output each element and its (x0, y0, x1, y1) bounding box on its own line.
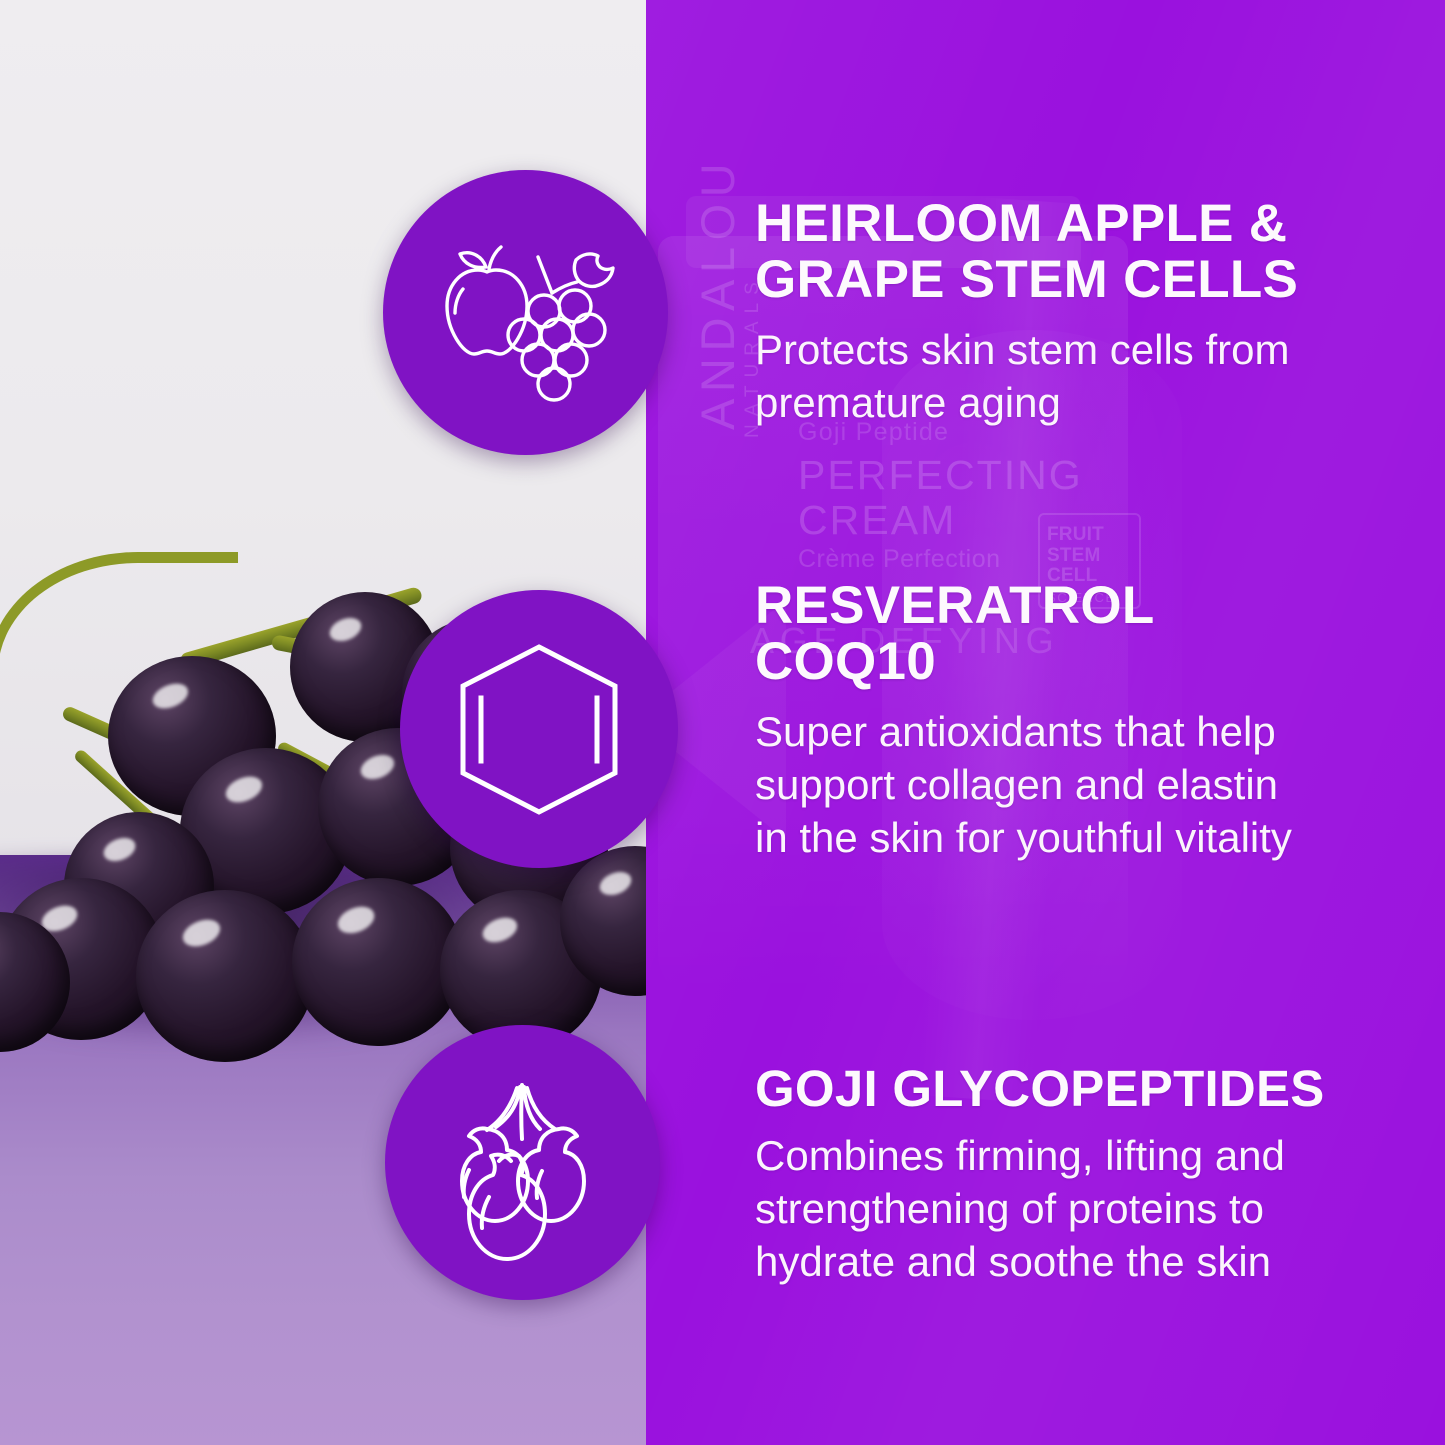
feature-title-2: RESVERATROL COQ10 (755, 578, 1315, 690)
feature-description-1: Protects skin stem cells from premature … (755, 324, 1395, 430)
feature-icon-circle-2 (400, 590, 678, 868)
feature-description-2: Super antioxidants that help support col… (755, 706, 1315, 865)
feature-icon-circle-1 (383, 170, 668, 455)
feature-title-1: HEIRLOOM APPLE & GRAPE STEM CELLS (755, 196, 1395, 308)
hexagon-molecule-icon (449, 637, 629, 822)
feature-block-3: GOJI GLYCOPEPTIDES Combines firming, lif… (755, 1062, 1405, 1289)
feature-block-1: HEIRLOOM APPLE & GRAPE STEM CELLS Protec… (755, 196, 1395, 430)
goji-berries-icon (425, 1065, 621, 1261)
ghost-badge-line2: STEM (1047, 546, 1139, 567)
feature-block-2: RESVERATROL COQ10 Super antioxidants tha… (755, 578, 1315, 865)
ghost-badge-line1: FRUIT (1047, 525, 1139, 546)
feature-icon-circle-3 (385, 1025, 660, 1300)
feature-description-3: Combines firming, lifting and strengthen… (755, 1130, 1405, 1289)
apple-and-grapes-icon (426, 223, 626, 403)
infographic-canvas: ANDALOU NATURALS Goji Peptide PERFECTING… (0, 0, 1445, 1445)
feature-title-3: GOJI GLYCOPEPTIDES (755, 1062, 1405, 1116)
